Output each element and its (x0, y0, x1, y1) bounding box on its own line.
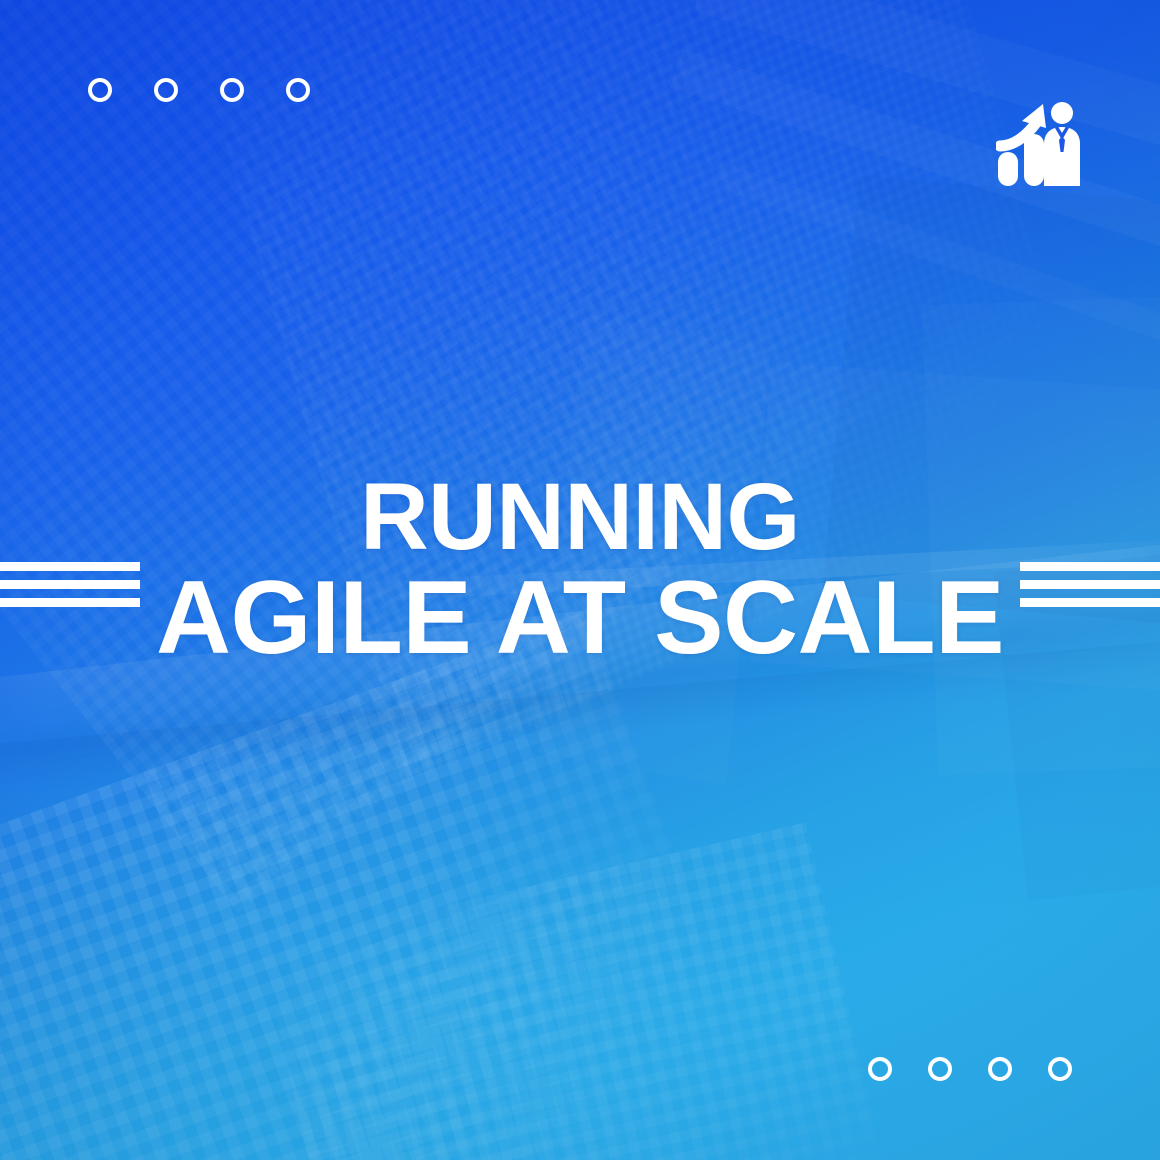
skyscraper-facade-upper-left (0, 0, 1010, 914)
bottom-right-dot-group (868, 1057, 1072, 1081)
title-line-2: AGILE AT SCALE (0, 567, 1160, 670)
skyscraper-facade-lower-left (0, 611, 833, 1160)
ring-dot-icon (928, 1057, 952, 1081)
ring-dot-icon (220, 78, 244, 102)
poster-canvas: RUNNING AGILE AT SCALE (0, 0, 1160, 1160)
ring-dot-icon (286, 78, 310, 102)
ring-dot-icon (868, 1057, 892, 1081)
ring-dot-icon (988, 1057, 1012, 1081)
ring-dot-icon (88, 78, 112, 102)
skyscraper-facade-lower-centre (260, 822, 900, 1160)
architectural-beam-3 (713, 162, 1160, 388)
ring-dot-icon (1048, 1057, 1072, 1081)
top-left-dot-group (88, 78, 310, 102)
architectural-beam-2 (670, 49, 1160, 291)
poster-title: RUNNING AGILE AT SCALE (0, 470, 1160, 670)
title-line-1: RUNNING (0, 470, 1160, 564)
business-growth-icon (996, 100, 1082, 188)
ring-dot-icon (154, 78, 178, 102)
architectural-beam-1 (694, 0, 1160, 182)
